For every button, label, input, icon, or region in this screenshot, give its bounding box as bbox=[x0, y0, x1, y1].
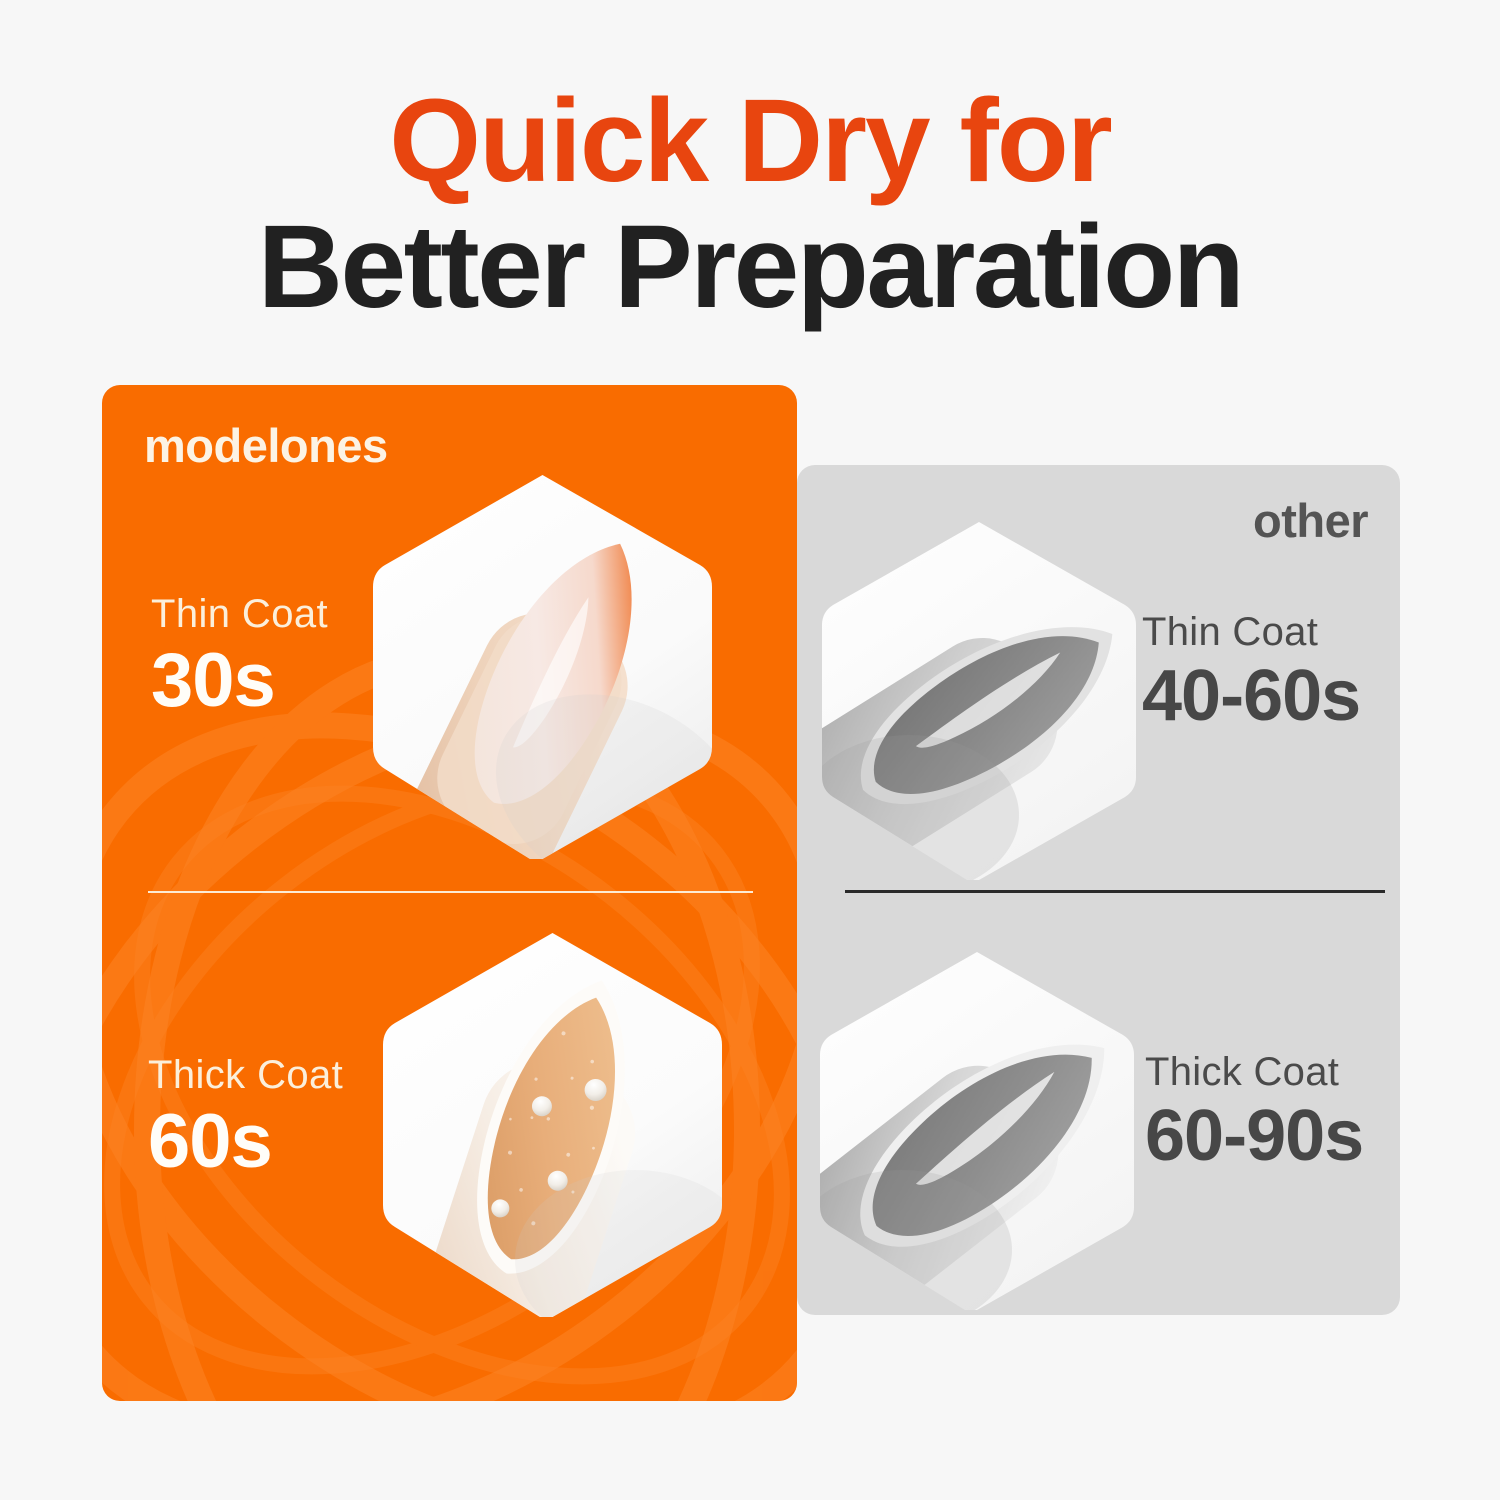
other-panel: other bbox=[797, 465, 1400, 1315]
title-line-secondary: Better Preparation bbox=[0, 204, 1500, 330]
other-row-thick-image bbox=[817, 945, 1137, 1315]
brand-row-thin-value: 30s bbox=[151, 639, 328, 723]
other-row-thin-image bbox=[819, 515, 1139, 887]
brand-row-thin-label: Thin Coat bbox=[151, 592, 328, 637]
other-row-thick-label: Thick Coat bbox=[1145, 1050, 1363, 1095]
other-row-thin-text: Thin Coat 40-60s bbox=[1142, 610, 1360, 736]
brand-row-thin-text: Thin Coat 30s bbox=[151, 592, 328, 722]
brand-row-thick-text: Thick Coat 60s bbox=[148, 1053, 343, 1183]
page-title: Quick Dry for Better Preparation bbox=[0, 78, 1500, 331]
brand-row-thick-value: 60s bbox=[148, 1100, 343, 1184]
brand-row-thick-image bbox=[380, 925, 725, 1325]
other-panel-name: other bbox=[1253, 493, 1368, 548]
infographic-root: Quick Dry for Better Preparation bbox=[0, 0, 1500, 1500]
other-row-thin-label: Thin Coat bbox=[1142, 610, 1360, 655]
other-row-thin-value: 40-60s bbox=[1142, 657, 1360, 736]
brand-row-thin-image bbox=[370, 467, 715, 867]
title-line-primary: Quick Dry for bbox=[0, 78, 1500, 204]
brand-panel-divider bbox=[148, 891, 753, 893]
brand-panel: modelones Thin Coat 30s bbox=[102, 385, 797, 1401]
other-row-thick-text: Thick Coat 60-90s bbox=[1145, 1050, 1363, 1176]
other-panel-divider bbox=[845, 890, 1385, 893]
brand-name-logo: modelones bbox=[144, 418, 388, 473]
brand-row-thick-label: Thick Coat bbox=[148, 1053, 343, 1098]
other-row-thick-value: 60-90s bbox=[1145, 1097, 1363, 1176]
